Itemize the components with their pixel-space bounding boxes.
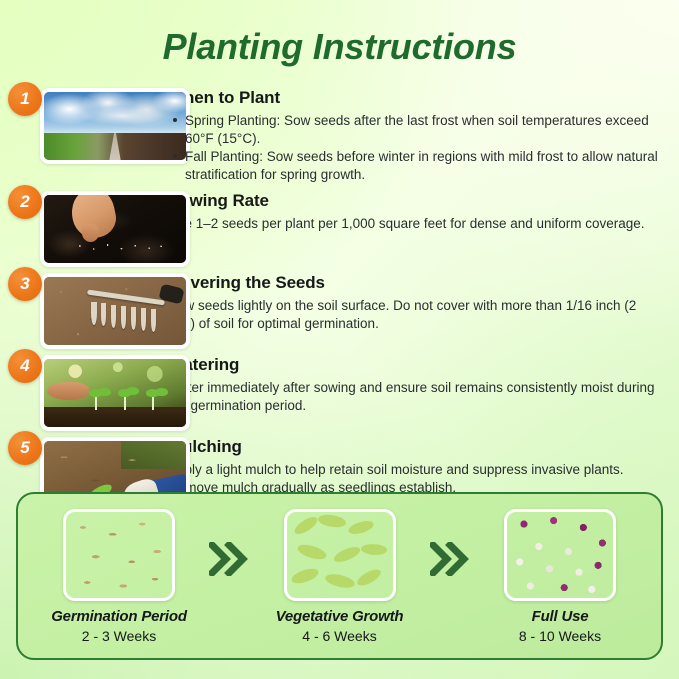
step-item-3: 3 Covering the Seeds Sow seeds lightly	[0, 273, 679, 349]
stage-image-young-seedlings-with-leaves	[284, 509, 396, 601]
step-image-hand-watering-seedlings	[40, 355, 190, 431]
step-item-4: 4 Watering Water immediately after sowin…	[0, 355, 679, 431]
step-2-text: Sowing Rate Use 1–2 seeds per plant per …	[168, 191, 679, 233]
step-image-rake-on-tilled-soil	[40, 273, 190, 349]
step-image-hand-sowing-seeds-in-dark-soil	[40, 191, 190, 267]
stage-duration-vegetative-growth: 4 - 6 Weeks	[255, 628, 425, 644]
planting-instructions-infographic: Planting Instructions 1 When to Plant Sp…	[0, 0, 679, 679]
step-number-badge-2: 2	[8, 185, 42, 219]
step-3-body: Sow seeds lightly on the soil surface. D…	[168, 297, 661, 333]
timeline-stage-germination: Germination Period 2 - 3 Weeks	[34, 509, 204, 644]
step-item-1: 1 When to Plant Spring Planting: Sow see…	[0, 88, 679, 185]
list-item: Fall Planting: Sow seeds before winter i…	[185, 148, 661, 184]
step-number-badge-1: 1	[8, 82, 42, 116]
step-4-text: Watering Water immediately after sowing …	[168, 355, 679, 414]
step-5-text: Mulching Apply a light mulch to help ret…	[168, 437, 679, 496]
step-5-heading: Mulching	[168, 437, 661, 457]
list-item: Spring Planting: Sow seeds after the las…	[185, 112, 661, 148]
step-1-bullet-list: Spring Planting: Sow seeds after the las…	[168, 112, 661, 185]
step-4-body: Water immediately after sowing and ensur…	[168, 379, 661, 415]
step-4-heading: Watering	[168, 355, 661, 375]
page-title: Planting Instructions	[0, 26, 679, 68]
stage-duration-full-use: 8 - 10 Weeks	[475, 628, 645, 644]
step-item-2: 2 Sowing Rate Use 1–2 seeds per plant pe…	[0, 191, 679, 267]
growth-timeline-panel: Germination Period 2 - 3 Weeks	[16, 492, 663, 660]
step-2-heading: Sowing Rate	[168, 191, 661, 211]
step-number-badge-4: 4	[8, 349, 42, 383]
step-1-body: Spring Planting: Sow seeds after the las…	[168, 112, 661, 185]
step-2-body: Use 1–2 seeds per plant per 1,000 square…	[168, 215, 661, 233]
step-3-thumbnail-wrap: 3	[0, 273, 168, 349]
step-2-thumbnail-wrap: 2	[0, 191, 168, 267]
timeline-stage-full-use: Full Use 8 - 10 Weeks	[475, 509, 645, 644]
step-1-text: When to Plant Spring Planting: Sow seeds…	[168, 88, 679, 185]
timeline-stage-vegetative-growth: Vegetative Growth 4 - 6 Weeks	[255, 509, 425, 644]
stage-name-vegetative-growth: Vegetative Growth	[255, 608, 425, 625]
stage-name-full-use: Full Use	[475, 608, 645, 625]
step-3-heading: Covering the Seeds	[168, 273, 661, 293]
stage-image-field-of-purple-and-white-flowers	[504, 509, 616, 601]
step-4-thumbnail-wrap: 4	[0, 355, 168, 431]
stage-image-seeds-germinating-in-soil	[63, 509, 175, 601]
step-1-thumbnail-wrap: 1	[0, 88, 168, 164]
step-image-field-with-road-under-cloudy-sky	[40, 88, 190, 164]
step-number-badge-5: 5	[8, 431, 42, 465]
step-number-badge-3: 3	[8, 267, 42, 301]
stage-duration-germination: 2 - 3 Weeks	[34, 628, 204, 644]
stage-name-germination: Germination Period	[34, 608, 204, 625]
double-chevron-right-icon-1	[206, 542, 252, 576]
steps-list: 1 When to Plant Spring Planting: Sow see…	[0, 88, 679, 513]
step-1-heading: When to Plant	[168, 88, 661, 108]
double-chevron-right-icon-2	[427, 542, 473, 576]
step-3-text: Covering the Seeds Sow seeds lightly on …	[168, 273, 679, 332]
